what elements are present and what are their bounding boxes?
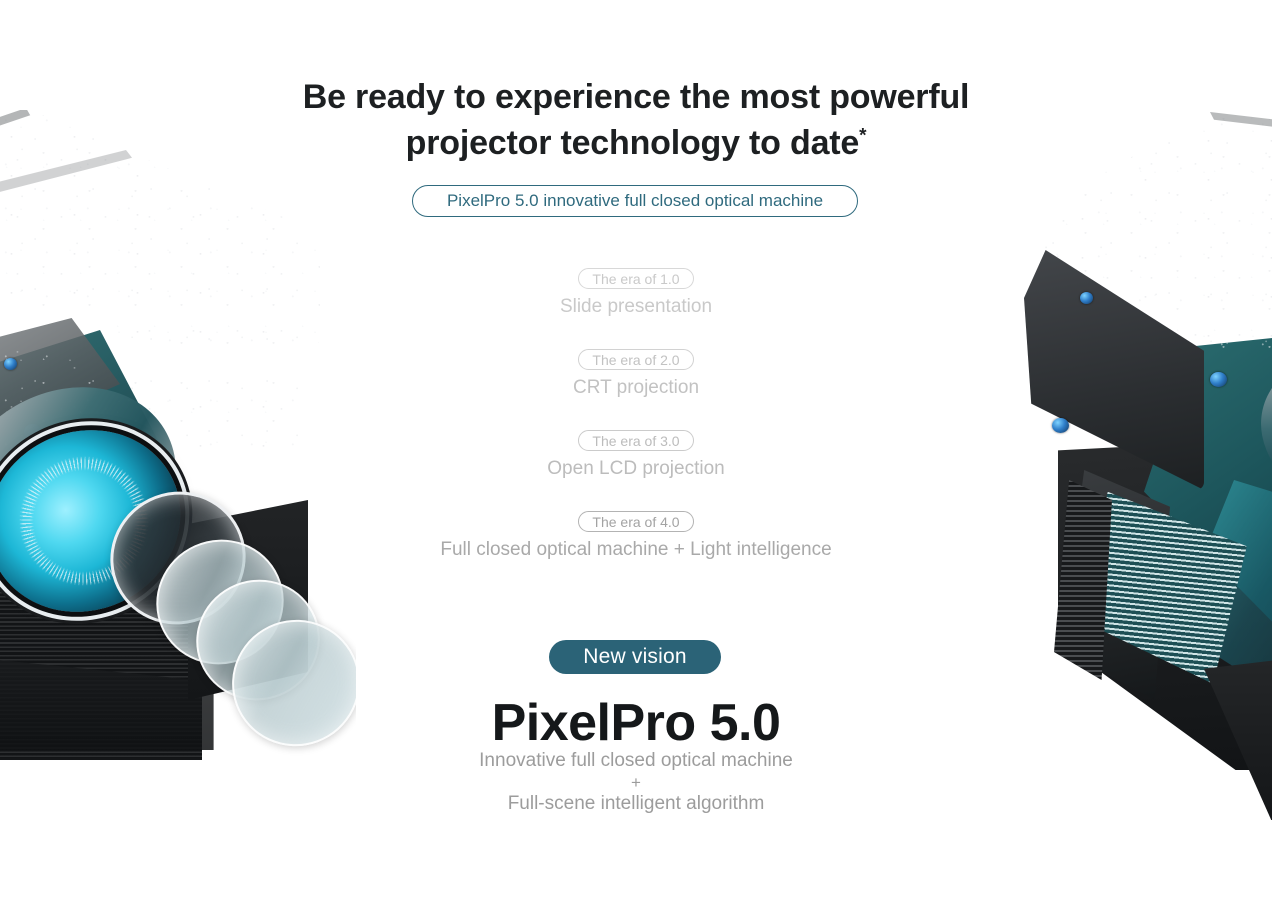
product-subtitle: Innovative full closed optical machine +…	[236, 749, 1036, 816]
era-badge-label: The era of 4.0	[592, 515, 679, 529]
era-badge-3: The era of 3.0	[578, 430, 693, 451]
headline-line-2: projector technology to date	[406, 124, 859, 162]
era-description-2: CRT projection	[236, 376, 1036, 400]
era-badge-4: The era of 4.0	[578, 511, 693, 532]
new-vision-badge[interactable]: New vision	[549, 640, 721, 674]
hero-pill-label: PixelPro 5.0 innovative full closed opti…	[447, 191, 823, 211]
page-title: Be ready to experience the most powerful…	[286, 74, 986, 166]
era-row-2: The era of 2.0 CRT projection	[236, 349, 1036, 400]
headline-line-1: Be ready to experience the most powerful	[303, 78, 970, 116]
hero-pill-badge[interactable]: PixelPro 5.0 innovative full closed opti…	[412, 185, 858, 217]
era-badge-label: The era of 3.0	[592, 434, 679, 448]
era-badge-1: The era of 1.0	[578, 268, 693, 289]
blue-screw-icon	[1052, 418, 1069, 433]
era-badge-label: The era of 2.0	[592, 353, 679, 367]
era-badge-2: The era of 2.0	[578, 349, 693, 370]
background-bottom-fill	[0, 838, 1272, 900]
footnote-marker: *	[859, 126, 866, 147]
era-description-1: Slide presentation	[236, 295, 1036, 319]
blue-screw-icon	[1080, 292, 1093, 304]
era-timeline: The era of 1.0 Slide presentation The er…	[236, 268, 1036, 562]
era-row-1: The era of 1.0 Slide presentation	[236, 268, 1036, 319]
era-description-3: Open LCD projection	[236, 457, 1036, 481]
blue-screw-icon	[1210, 372, 1227, 387]
promo-page: Be ready to experience the most powerful…	[0, 0, 1272, 900]
new-vision-label: New vision	[583, 645, 687, 669]
product-name: PixelPro 5.0	[236, 694, 1036, 752]
era-row-3: The era of 3.0 Open LCD projection	[236, 430, 1036, 481]
era-description-4: Full closed optical machine + Light inte…	[236, 538, 1036, 562]
blue-screw-icon	[4, 358, 17, 370]
right-projector-image	[1024, 0, 1272, 900]
product-subtitle-plus: +	[236, 773, 1036, 792]
era-row-4: The era of 4.0 Full closed optical machi…	[236, 511, 1036, 562]
product-subtitle-line-2: Full-scene intelligent algorithm	[508, 793, 765, 814]
product-subtitle-line-1: Innovative full closed optical machine	[479, 750, 793, 771]
era-badge-label: The era of 1.0	[592, 272, 679, 286]
